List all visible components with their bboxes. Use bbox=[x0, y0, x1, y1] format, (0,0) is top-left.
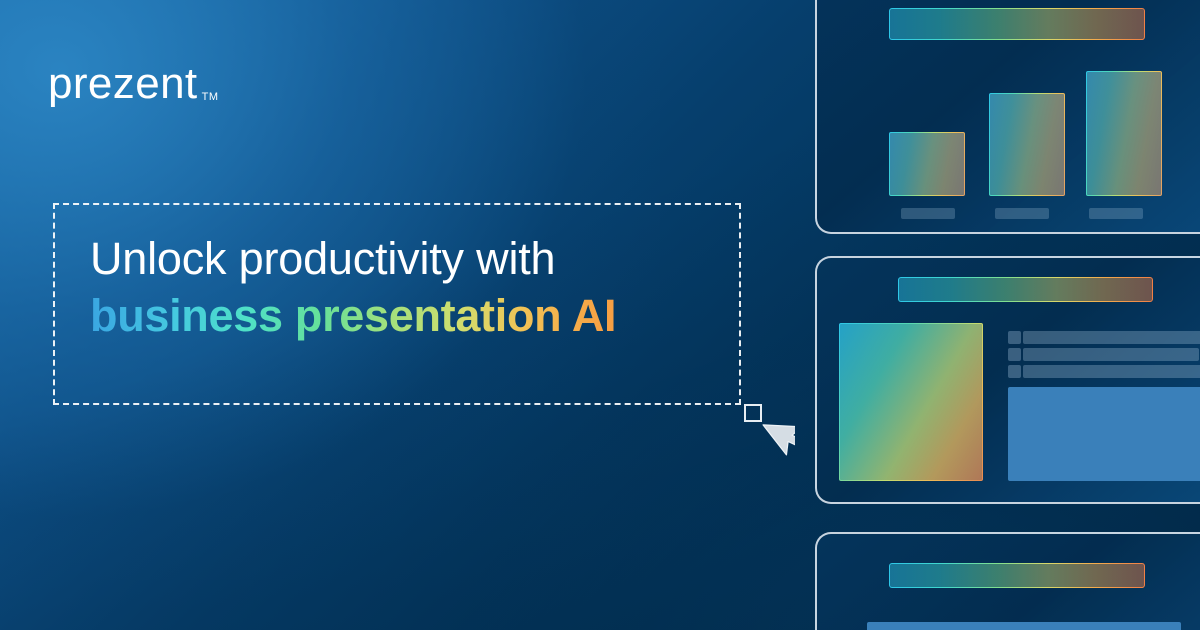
slide-preview-stack bbox=[815, 0, 1200, 630]
bullet-marker-1 bbox=[1008, 331, 1021, 344]
headline-line-1: Unlock productivity with bbox=[90, 232, 730, 285]
content-block bbox=[867, 622, 1181, 630]
chart-bar-3 bbox=[1086, 71, 1162, 196]
bullet-marker-3 bbox=[1008, 365, 1021, 378]
bullet-marker-2 bbox=[1008, 348, 1021, 361]
slide-card-bar-chart[interactable] bbox=[815, 0, 1200, 234]
chart-bar-1 bbox=[889, 132, 965, 196]
slide-card-partial[interactable] bbox=[815, 532, 1200, 630]
bullet-text-2 bbox=[1023, 348, 1199, 361]
chart-bar-2 bbox=[989, 93, 1065, 196]
bullet-text-1 bbox=[1023, 331, 1200, 344]
slide-title-placeholder bbox=[898, 277, 1153, 302]
promo-banner: prezent TM Unlock productivity with busi… bbox=[0, 0, 1200, 630]
logo-wordmark: prezent bbox=[48, 62, 198, 106]
chart-axis-label-2 bbox=[995, 208, 1049, 219]
content-block bbox=[1008, 387, 1200, 481]
prezent-logo[interactable]: prezent TM bbox=[48, 62, 219, 106]
chart-axis-label-1 bbox=[901, 208, 955, 219]
image-placeholder bbox=[839, 323, 983, 481]
headline-line-2: business presentation AI bbox=[90, 289, 730, 342]
bullet-text-3 bbox=[1023, 365, 1200, 378]
slide-title-placeholder bbox=[889, 8, 1145, 40]
chart-axis-label-3 bbox=[1089, 208, 1143, 219]
page-title: Unlock productivity with business presen… bbox=[90, 232, 730, 342]
resize-handle-icon[interactable] bbox=[744, 404, 762, 422]
slide-card-image-bullets[interactable] bbox=[815, 256, 1200, 504]
trademark-symbol: TM bbox=[202, 91, 219, 103]
slide-title-placeholder bbox=[889, 563, 1145, 588]
